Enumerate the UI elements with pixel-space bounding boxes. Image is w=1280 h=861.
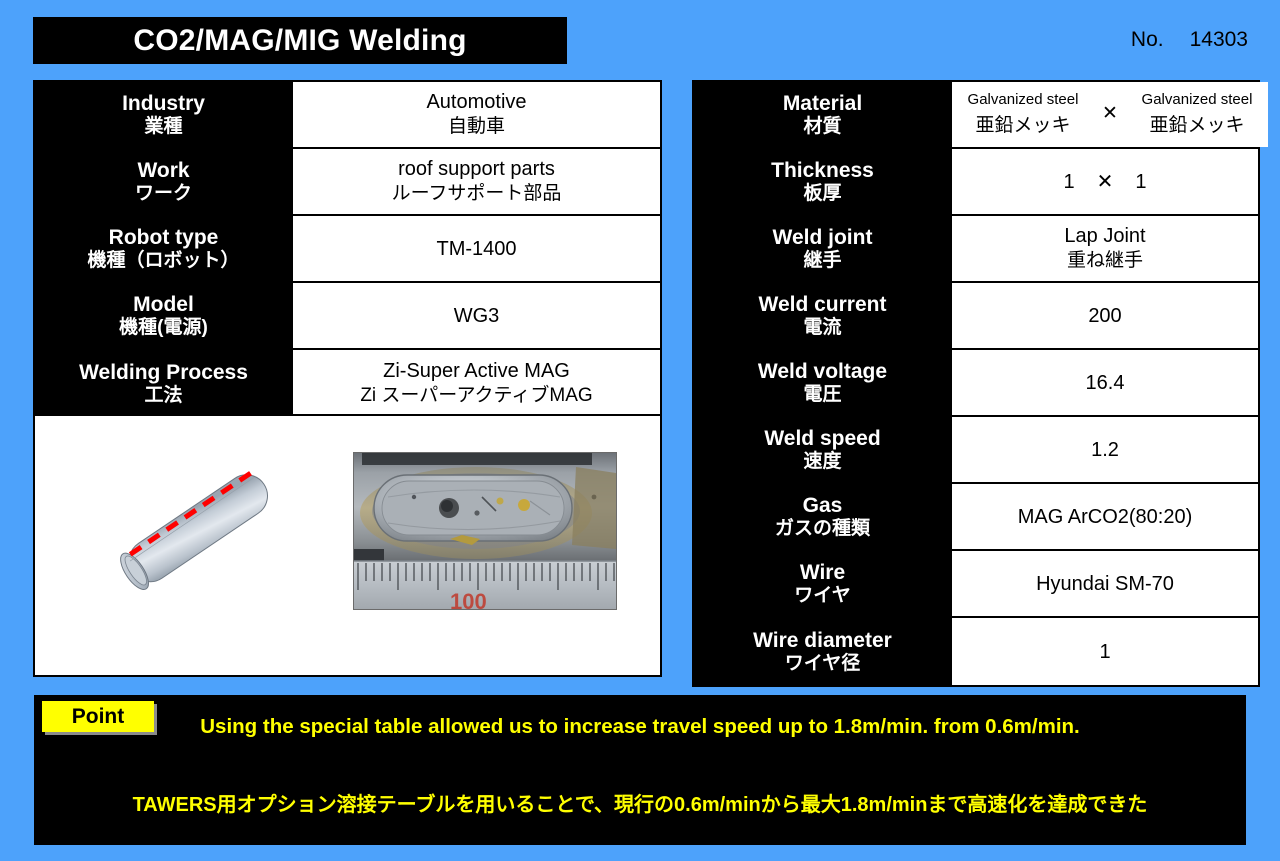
- label-jp: ワイヤ: [794, 585, 850, 606]
- document-number: No. 14303: [1131, 28, 1248, 52]
- material-left-en: Galvanized steel: [968, 90, 1079, 110]
- table-row-thickness: Thickness 板厚 1 ✕ 1: [694, 149, 1258, 216]
- table-row-gas: Gas ガスの種類 MAG ArCO2(80:20): [694, 484, 1258, 551]
- label-jp: ガスの種類: [775, 518, 870, 539]
- row-label-gas: Gas ガスの種類: [694, 484, 952, 549]
- table-row-weld-voltage: Weld voltage 電圧 16.4: [694, 350, 1258, 417]
- label-jp: 速度: [803, 451, 841, 472]
- title-box: CO2/MAG/MIG Welding: [33, 17, 567, 64]
- row-value-weld-speed: 1.2: [952, 417, 1258, 482]
- value-en: MAG ArCO2(80:20): [1018, 504, 1193, 530]
- image-panel: 100: [33, 414, 662, 677]
- table-row-wire: Wire ワイヤ Hyundai SM-70: [694, 551, 1258, 618]
- label-jp: 継手: [803, 250, 841, 271]
- label-en: Welding Process: [79, 361, 248, 385]
- label-en: Thickness: [771, 159, 874, 183]
- row-value-material: Galvanized steel 亜鉛メッキ ✕ Galvanized stee…: [952, 82, 1268, 147]
- multiply-icon: ✕: [1088, 102, 1132, 127]
- row-label-wire-diameter: Wire diameter ワイヤ径: [694, 618, 952, 685]
- row-value-model: WG3: [293, 283, 660, 348]
- row-label-robot-type: Robot type 機種（ロボット）: [35, 216, 293, 281]
- material-left: Galvanized steel 亜鉛メッキ: [958, 90, 1088, 138]
- thickness-left: 1: [1063, 169, 1074, 195]
- row-value-thickness: 1 ✕ 1: [952, 149, 1258, 214]
- row-value-weld-joint: Lap Joint 重ね継手: [952, 216, 1258, 281]
- point-text-jp: TAWERS用オプション溶接テーブルを用いることで、現行の0.6m/minから最…: [34, 788, 1246, 817]
- value-en: Automotive: [426, 89, 526, 115]
- row-label-industry: Industry 業種: [35, 82, 293, 147]
- label-jp: 機種（ロボット）: [87, 250, 239, 271]
- label-jp: 板厚: [803, 183, 841, 204]
- label-en: Wire diameter: [753, 629, 892, 653]
- table-row-robot-type: Robot type 機種（ロボット） TM-1400: [35, 216, 660, 283]
- left-spec-table: Industry 業種 Automotive 自動車 Work ワーク roof…: [33, 80, 662, 419]
- material-right-jp: 亜鉛メッキ: [1149, 114, 1244, 139]
- row-value-gas: MAG ArCO2(80:20): [952, 484, 1258, 549]
- row-value-industry: Automotive 自動車: [293, 82, 660, 147]
- label-jp: 材質: [803, 116, 841, 137]
- row-label-weld-voltage: Weld voltage 電圧: [694, 350, 952, 415]
- right-spec-table: Material 材質 Galvanized steel 亜鉛メッキ ✕ Gal…: [692, 80, 1260, 687]
- table-row-industry: Industry 業種 Automotive 自動車: [35, 82, 660, 149]
- table-row-material: Material 材質 Galvanized steel 亜鉛メッキ ✕ Gal…: [694, 82, 1258, 149]
- label-jp: ワイヤ径: [785, 653, 860, 674]
- table-row-work: Work ワーク roof support parts ルーフサポート部品: [35, 149, 660, 216]
- row-label-wire: Wire ワイヤ: [694, 551, 952, 616]
- table-row-wire-diameter: Wire diameter ワイヤ径 1: [694, 618, 1258, 685]
- tube-cad-drawing: [97, 448, 297, 608]
- label-en: Weld speed: [764, 427, 880, 451]
- label-jp: 機種(電源): [119, 317, 208, 338]
- value-en: 1.2: [1091, 437, 1119, 463]
- row-label-work: Work ワーク: [35, 149, 293, 214]
- row-label-thickness: Thickness 板厚: [694, 149, 952, 214]
- label-en: Weld current: [759, 293, 887, 317]
- row-label-weld-joint: Weld joint 継手: [694, 216, 952, 281]
- row-label-welding-process: Welding Process 工法: [35, 350, 293, 417]
- label-en: Industry: [122, 92, 205, 116]
- value-jp: 自動車: [448, 115, 505, 140]
- row-value-weld-current: 200: [952, 283, 1258, 348]
- document-number-value: 14303: [1190, 28, 1248, 52]
- page-header: CO2/MAG/MIG Welding No. 14303: [0, 0, 1280, 78]
- label-en: Gas: [803, 494, 843, 518]
- label-en: Weld joint: [773, 226, 873, 250]
- value-en: 1: [1099, 639, 1110, 665]
- material-right-en: Galvanized steel: [1142, 90, 1253, 110]
- value-jp: ルーフサポート部品: [392, 182, 562, 207]
- row-value-welding-process: Zi-Super Active MAG Zi スーパーアクティブMAG: [293, 350, 660, 417]
- label-jp: 電流: [803, 317, 841, 338]
- document-number-label: No.: [1131, 28, 1164, 52]
- row-label-model: Model 機種(電源): [35, 283, 293, 348]
- label-en: Wire: [800, 561, 845, 585]
- label-en: Weld voltage: [758, 360, 887, 384]
- row-label-weld-current: Weld current 電流: [694, 283, 952, 348]
- value-en: Lap Joint: [1064, 223, 1145, 249]
- weld-macro-photo: 100: [353, 452, 617, 610]
- table-row-weld-speed: Weld speed 速度 1.2: [694, 417, 1258, 484]
- value-en: Hyundai SM-70: [1036, 571, 1174, 597]
- value-jp: 重ね継手: [1067, 249, 1143, 274]
- table-row-weld-current: Weld current 電流 200: [694, 283, 1258, 350]
- label-en: Material: [783, 92, 862, 116]
- point-panel: Point Using the special table allowed us…: [34, 695, 1246, 845]
- row-value-wire: Hyundai SM-70: [952, 551, 1258, 616]
- value-en: Zi-Super Active MAG: [383, 358, 570, 384]
- label-en: Model: [133, 293, 194, 317]
- value-en: roof support parts: [398, 156, 555, 182]
- page-title: CO2/MAG/MIG Welding: [133, 24, 466, 58]
- weld-photo-graphic: 100: [354, 453, 616, 609]
- thickness-right: 1: [1135, 169, 1146, 195]
- value-en: TM-1400: [436, 236, 516, 262]
- value-jp: Zi スーパーアクティブMAG: [360, 384, 592, 409]
- point-text-en: Using the special table allowed us to in…: [34, 715, 1246, 739]
- label-jp: ワーク: [135, 183, 192, 204]
- value-en: 200: [1088, 303, 1121, 329]
- label-jp: 電圧: [803, 384, 841, 405]
- row-value-wire-diameter: 1: [952, 618, 1258, 685]
- label-en: Work: [137, 159, 189, 183]
- table-row-welding-process: Welding Process 工法 Zi-Super Active MAG Z…: [35, 350, 660, 417]
- label-jp: 業種: [144, 116, 182, 137]
- material-left-jp: 亜鉛メッキ: [975, 114, 1070, 139]
- label-en: Robot type: [109, 226, 219, 250]
- label-jp: 工法: [144, 385, 182, 406]
- row-label-weld-speed: Weld speed 速度: [694, 417, 952, 482]
- row-value-weld-voltage: 16.4: [952, 350, 1258, 415]
- svg-text:100: 100: [450, 589, 487, 609]
- material-right: Galvanized steel 亜鉛メッキ: [1132, 90, 1262, 138]
- value-en: 16.4: [1086, 370, 1125, 396]
- value-en: WG3: [454, 303, 500, 329]
- multiply-icon: ✕: [1097, 169, 1114, 195]
- row-value-robot-type: TM-1400: [293, 216, 660, 281]
- row-value-work: roof support parts ルーフサポート部品: [293, 149, 660, 214]
- row-label-material: Material 材質: [694, 82, 952, 147]
- table-row-model: Model 機種(電源) WG3: [35, 283, 660, 350]
- table-row-weld-joint: Weld joint 継手 Lap Joint 重ね継手: [694, 216, 1258, 283]
